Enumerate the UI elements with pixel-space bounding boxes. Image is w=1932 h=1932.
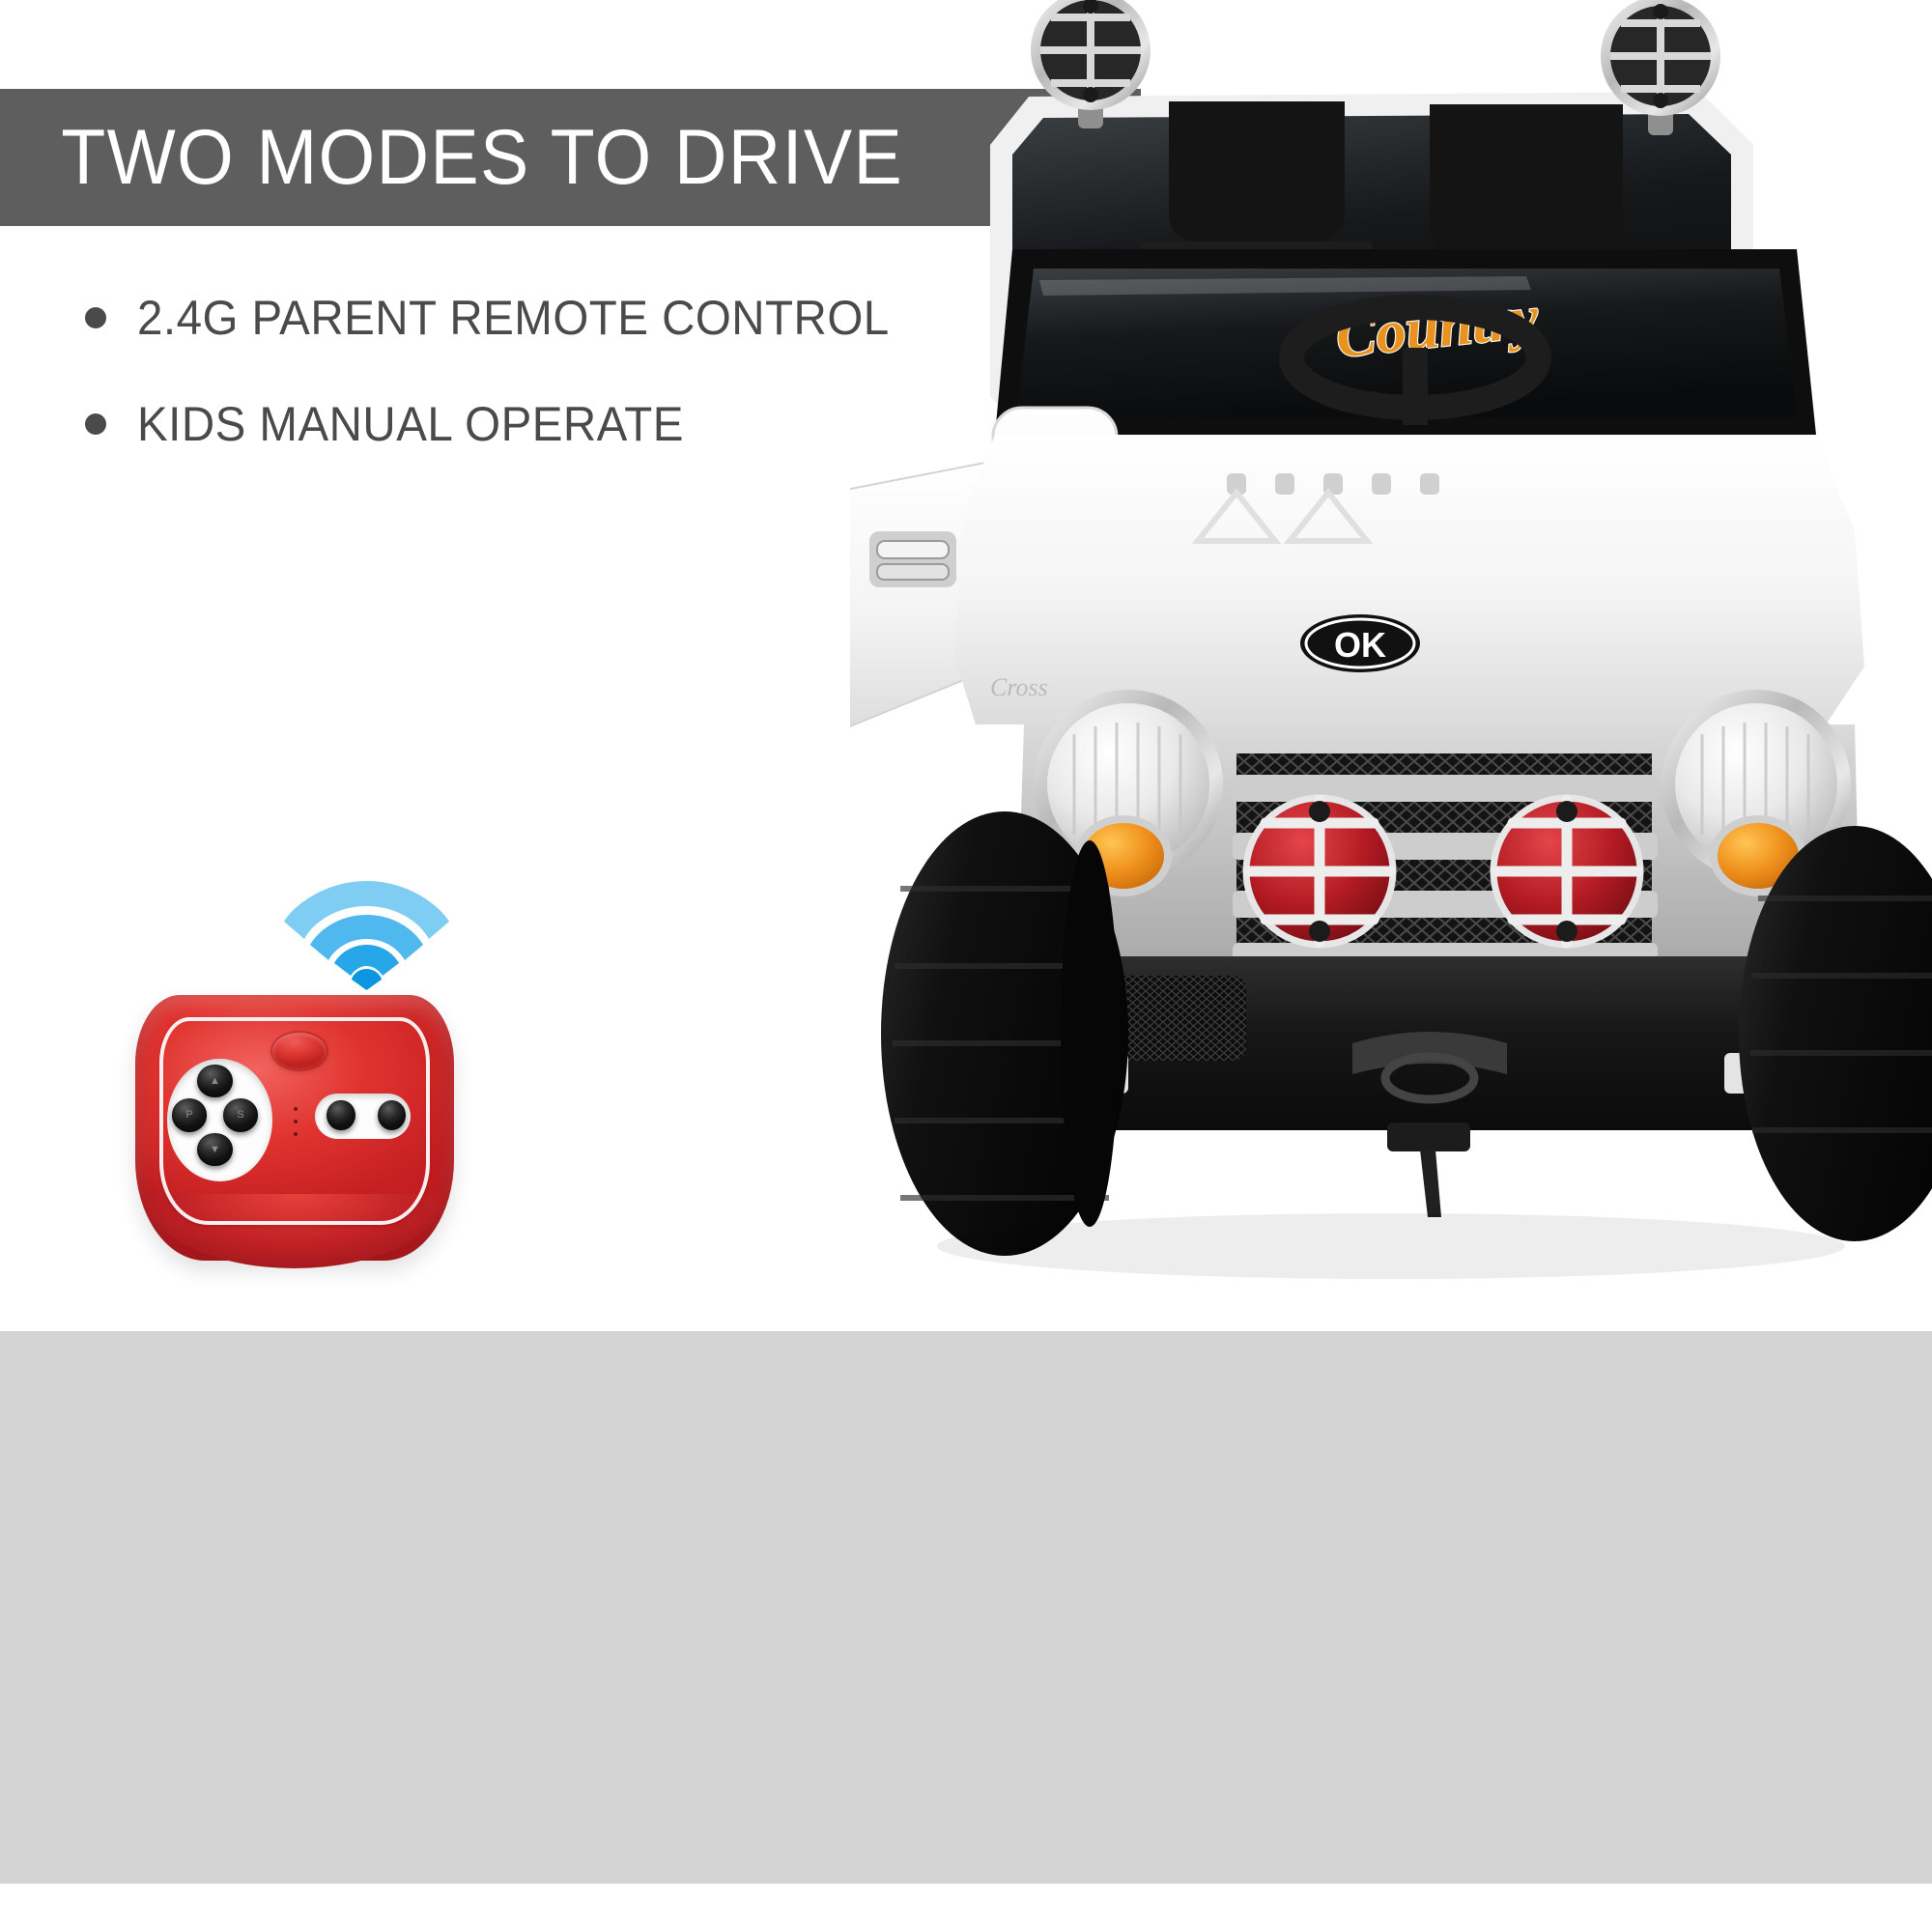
fog-light-left <box>1246 798 1393 945</box>
speed-dot-icon <box>294 1120 298 1123</box>
brake-button[interactable]: P <box>172 1098 207 1131</box>
remote-control-small: ▲ P S ▼ <box>135 995 454 1261</box>
callout-diagram-section: Forward button Brake button Reverse butt… <box>0 1331 1932 1884</box>
bottom-white-strip <box>0 1884 1932 1932</box>
feature-label-manual: KIDS MANUAL OPERATE <box>137 396 684 452</box>
connection-button[interactable] <box>272 1033 327 1070</box>
bullet-dot-icon <box>85 413 106 435</box>
speed-dot-icon <box>294 1132 298 1136</box>
speed-dot-icon <box>294 1107 298 1111</box>
reverse-button[interactable]: ▼ <box>197 1133 232 1166</box>
forward-button[interactable]: ▲ <box>197 1065 232 1097</box>
vehicle-body: OK Cross <box>954 435 1864 724</box>
hood-badge: OK <box>1300 614 1420 672</box>
fog-light-right <box>1493 798 1640 945</box>
speed-letter-icon: S <box>237 1109 243 1121</box>
list-item: 2.4G PARENT REMOTE CONTROL <box>85 290 929 346</box>
brake-letter-icon: P <box>185 1109 192 1121</box>
wifi-signal-icon <box>282 869 451 990</box>
door-handle-icon <box>869 531 956 587</box>
speed-indicator <box>293 1107 298 1136</box>
wheel-front-left <box>881 811 1128 1256</box>
feature-label-remote: 2.4G PARENT REMOTE CONTROL <box>137 290 890 346</box>
list-item: KIDS MANUAL OPERATE <box>85 396 929 452</box>
reverse-arrow-icon: ▼ <box>210 1144 220 1155</box>
speed-select-button[interactable]: S <box>223 1098 258 1131</box>
fender-badge: Cross <box>990 673 1048 701</box>
feature-bullet-list: 2.4G PARENT REMOTE CONTROL KIDS MANUAL O… <box>85 290 929 502</box>
left-turning-button[interactable] <box>327 1100 355 1131</box>
forward-arrow-icon: ▲ <box>210 1075 220 1087</box>
front-fascia <box>1016 690 1861 966</box>
page-title: TWO MODES TO DRIVE <box>0 113 903 203</box>
svg-text:OK: OK <box>1334 625 1386 665</box>
ride-on-jeep-image: Country <box>850 0 1932 1285</box>
bullet-dot-icon <box>85 307 106 328</box>
top-section: TWO MODES TO DRIVE 2.4G PARENT REMOTE CO… <box>0 0 1932 1331</box>
